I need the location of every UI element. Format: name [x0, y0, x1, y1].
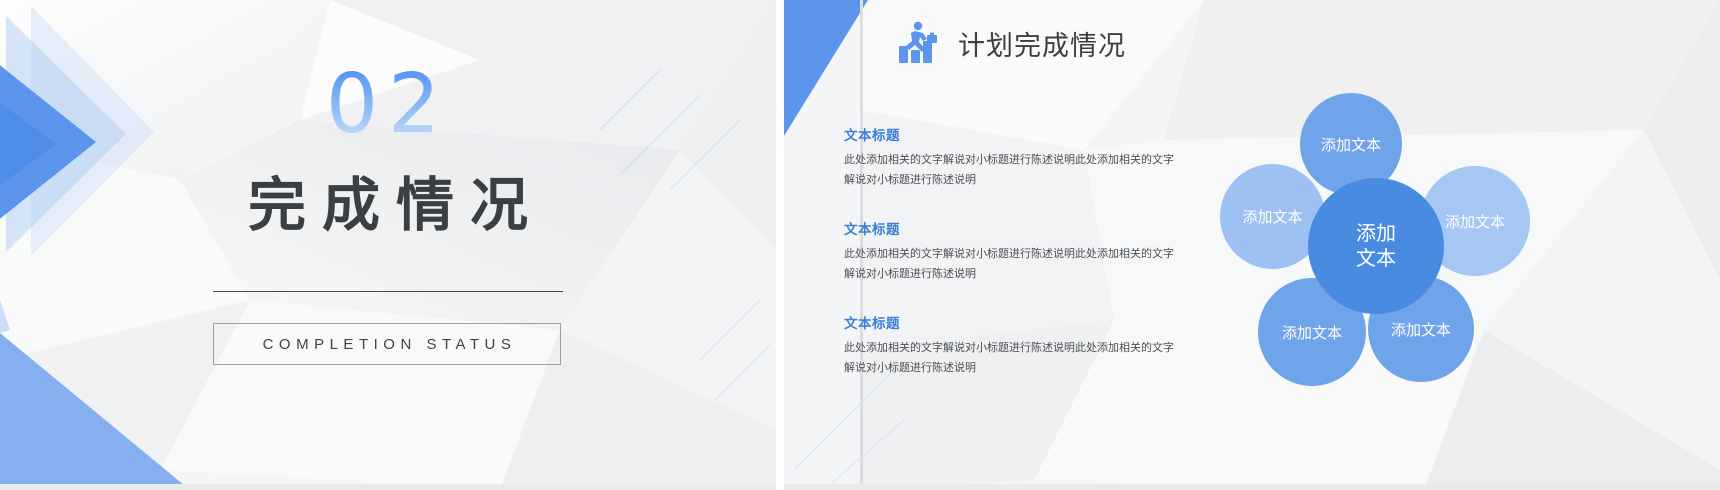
bubble-cluster-diagram: 添加文本 添加文本 添加文本 添加文本 添加文本 添加 文本 [1180, 78, 1700, 408]
text-block-title: 文本标题 [844, 124, 1184, 144]
bubble-center[interactable]: 添加 文本 [1308, 178, 1444, 314]
right-content-panel: 计划完成情况 文本标题 此处添加相关的文字解说对小标题进行陈述说明此处添加相关的… [784, 0, 1720, 490]
text-block-body: 此处添加相关的文字解说对小标题进行陈述说明此处添加相关的文字解说对小标题进行陈述… [844, 338, 1184, 379]
text-block-body: 此处添加相关的文字解说对小标题进行陈述说明此处添加相关的文字解说对小标题进行陈述… [844, 244, 1184, 285]
businessman-climbing-bar-chart-icon [896, 20, 942, 66]
title-divider [213, 291, 563, 292]
section-header-title: 计划完成情况 [958, 24, 1126, 63]
section-number: 02 [0, 64, 776, 146]
text-block: 文本标题 此处添加相关的文字解说对小标题进行陈述说明此处添加相关的文字解说对小标… [844, 312, 1184, 379]
right-frame-bottom-edge [784, 484, 1720, 490]
text-block-body: 此处添加相关的文字解说对小标题进行陈述说明此处添加相关的文字解说对小标题进行陈述… [844, 150, 1184, 191]
presentation-slide: 02 02 完成情况 COMPLETION STATUS [0, 0, 1720, 490]
text-block-title: 文本标题 [844, 218, 1184, 238]
section-header: 计划完成情况 [896, 20, 1126, 66]
left-frame-bottom-edge [0, 484, 776, 490]
bubble-center-line2: 文本 [1356, 246, 1396, 270]
subtitle-label: COMPLETION STATUS [258, 336, 517, 353]
corner-blue-triangle [784, 0, 868, 136]
subtitle-box: COMPLETION STATUS [213, 323, 561, 365]
left-section-panel: 02 02 完成情况 COMPLETION STATUS [0, 0, 776, 490]
page-title: 完成情况 [0, 175, 776, 236]
bubble-center-line1: 添加 [1356, 221, 1396, 245]
text-block-title: 文本标题 [844, 312, 1184, 332]
text-block: 文本标题 此处添加相关的文字解说对小标题进行陈述说明此处添加相关的文字解说对小标… [844, 218, 1184, 285]
text-block: 文本标题 此处添加相关的文字解说对小标题进行陈述说明此处添加相关的文字解说对小标… [844, 124, 1184, 191]
